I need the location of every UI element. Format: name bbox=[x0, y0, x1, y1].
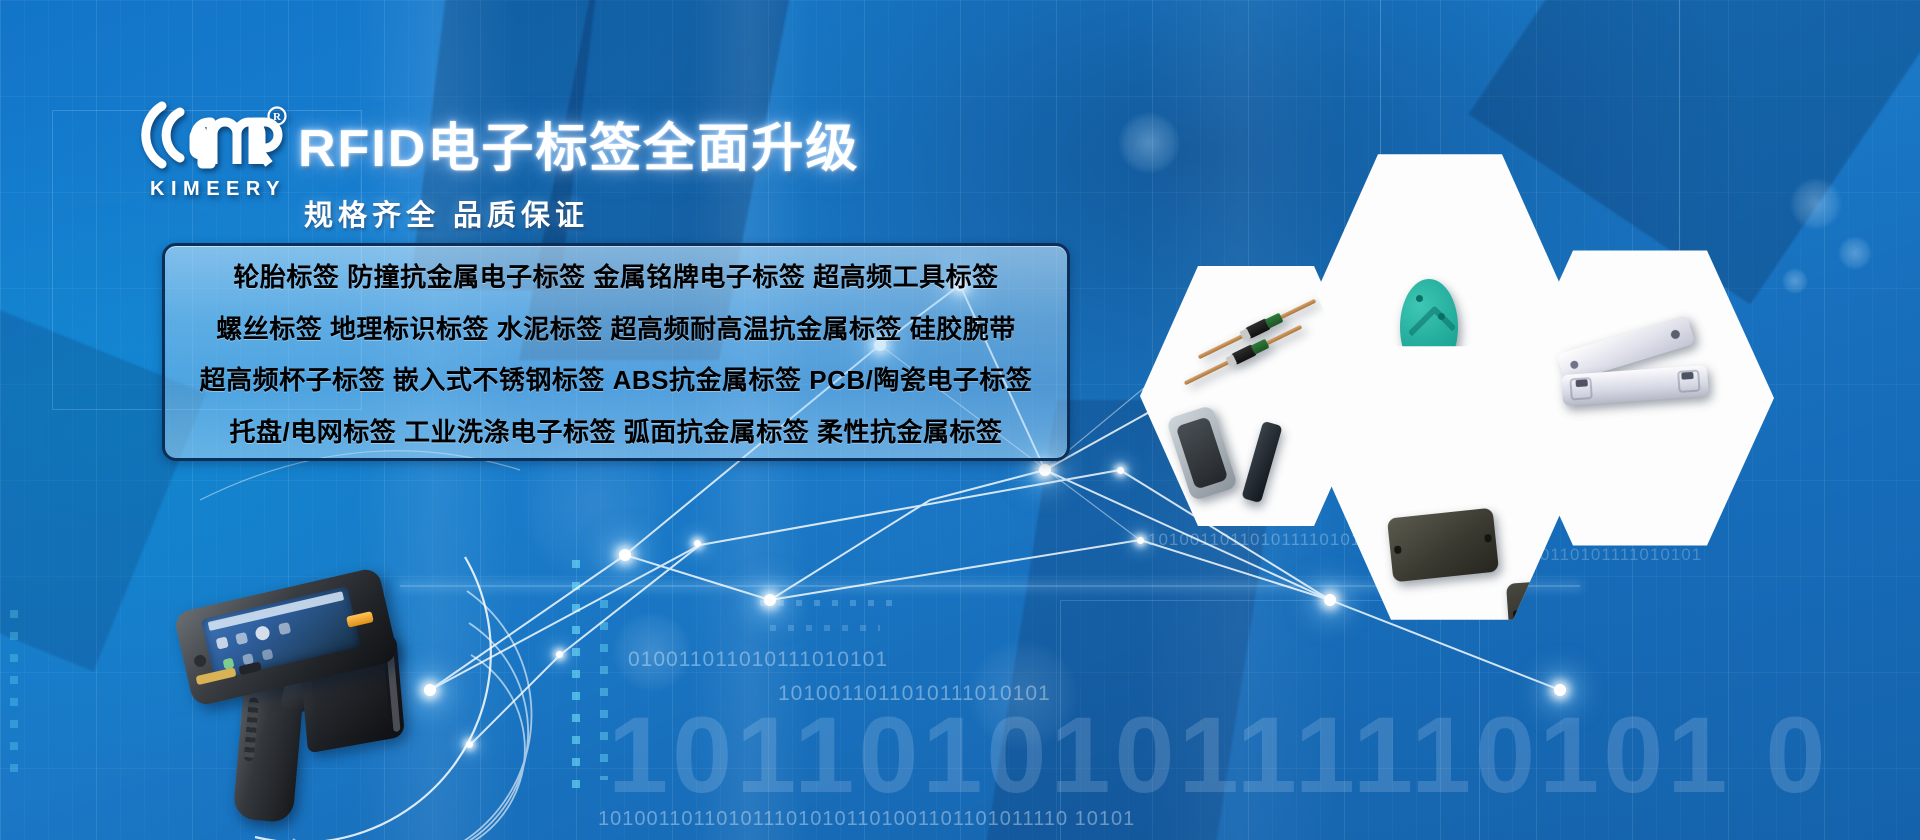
list-item-text: 托盘/电网标签 工业洗涤电子标签 弧面抗金属标签 柔性抗金属标签 bbox=[230, 412, 1003, 449]
page-title: RFID电子标签全面升级 bbox=[298, 106, 859, 181]
list-item: 托盘/电网标签 工业洗涤电子标签 弧面抗金属标签 柔性抗金属标签 bbox=[165, 405, 1067, 457]
network-node-12 bbox=[694, 540, 701, 547]
kimeery-signal-logo-icon: R bbox=[140, 96, 290, 174]
kimeery-logo: R KIMEERY bbox=[140, 96, 290, 201]
list-item-text: 螺丝标签 地理标识标签 水泥标签 超高频耐高温抗金属标签 硅胶腕带 bbox=[216, 309, 1015, 346]
reader-screen bbox=[201, 586, 361, 680]
network-node-6 bbox=[1117, 467, 1124, 474]
product-showcase bbox=[1140, 150, 1840, 580]
list-item-text: 轮胎标签 防撞抗金属电子标签 金属铭牌电子标签 超高频工具标签 bbox=[233, 257, 998, 294]
binary-line-1: 010011011010111010101 bbox=[628, 648, 888, 672]
black-bar-tag bbox=[1241, 421, 1282, 503]
handheld-rfid-reader bbox=[175, 585, 485, 840]
list-item: 轮胎标签 防撞抗金属电子标签 金属铭牌电子标签 超高频工具标签 bbox=[165, 250, 1067, 302]
network-node-7 bbox=[1324, 594, 1336, 606]
network-node-1 bbox=[619, 549, 631, 561]
network-node-2 bbox=[764, 594, 776, 606]
list-item-text: 超高频杯子标签 嵌入式不锈钢标签 ABS抗金属标签 PCB/陶瓷电子标签 bbox=[200, 360, 1033, 397]
network-node-5 bbox=[1039, 464, 1051, 476]
dark-abs-tag-1 bbox=[1387, 508, 1499, 583]
binary-large-text: 101101010111110101 0 bbox=[608, 692, 1829, 817]
svg-text:R: R bbox=[273, 111, 282, 123]
list-item: 超高频杯子标签 嵌入式不锈钢标签 ABS抗金属标签 PCB/陶瓷电子标签 bbox=[165, 353, 1067, 405]
page-subtitle: 规格齐全 品质保证 bbox=[304, 192, 589, 234]
anti-metal-base bbox=[1166, 405, 1238, 502]
list-item: 螺丝标签 地理标识标签 水泥标签 超高频耐高温抗金属标签 硅胶腕带 bbox=[165, 302, 1067, 354]
rfid-product-banner: 010011011010111010101 101001101101011101… bbox=[0, 0, 1920, 840]
logo-wordmark: KIMEERY bbox=[140, 178, 290, 201]
product-category-list: 轮胎标签 防撞抗金属电子标签 金属铭牌电子标签 超高频工具标签 螺丝标签 地理标… bbox=[162, 243, 1070, 461]
registered-trademark-icon: R bbox=[269, 108, 286, 125]
